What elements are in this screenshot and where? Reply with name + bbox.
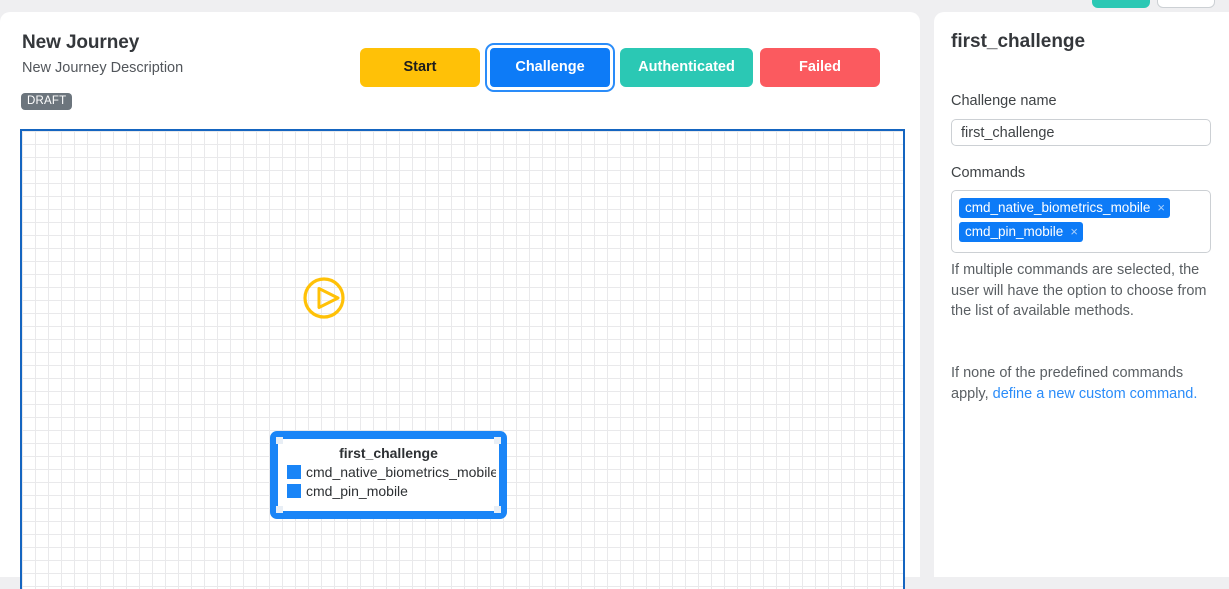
list-item: cmd_native_biometrics_mobile xyxy=(287,464,496,480)
commands-multiselect[interactable]: cmd_native_biometrics_mobile × cmd_pin_m… xyxy=(951,190,1211,253)
resize-handle-bottom-left[interactable] xyxy=(276,506,283,513)
journey-main-card: New Journey New Journey Description DRAF… xyxy=(0,12,920,577)
top-action-bar xyxy=(0,0,1229,12)
command-chip-label: cmd_native_biometrics_mobile xyxy=(965,200,1150,215)
resize-handle-bottom-right[interactable] xyxy=(494,506,501,513)
state-button-start[interactable]: Start xyxy=(360,48,480,87)
play-circle-icon[interactable] xyxy=(302,276,346,320)
challenge-node-title: first_challenge xyxy=(281,445,496,461)
properties-panel: first_challenge Challenge name Commands … xyxy=(934,12,1229,577)
resize-handle-top-right[interactable] xyxy=(494,437,501,444)
challenge-node-command-label: cmd_native_biometrics_mobile xyxy=(306,464,498,480)
resize-handle-top-left[interactable] xyxy=(276,437,283,444)
status-badge: DRAFT xyxy=(21,93,72,110)
close-icon[interactable]: × xyxy=(1157,201,1165,214)
command-chip-label: cmd_pin_mobile xyxy=(965,224,1063,239)
commands-label: Commands xyxy=(951,165,1025,181)
challenge-name-label: Challenge name xyxy=(951,93,1057,109)
list-item: cmd_pin_mobile xyxy=(287,483,496,499)
commands-help-text: If multiple commands are selected, the u… xyxy=(951,260,1213,322)
challenge-node[interactable]: first_challenge cmd_native_biometrics_mo… xyxy=(270,431,507,519)
command-color-swatch xyxy=(287,465,301,479)
close-icon[interactable]: × xyxy=(1070,225,1078,238)
command-chip[interactable]: cmd_native_biometrics_mobile × xyxy=(959,198,1170,218)
command-chip[interactable]: cmd_pin_mobile × xyxy=(959,222,1083,242)
page-title: New Journey xyxy=(22,32,139,54)
state-button-failed[interactable]: Failed xyxy=(760,48,880,87)
journey-editor-app: New Journey New Journey Description DRAF… xyxy=(0,0,1229,577)
journey-canvas[interactable]: first_challenge cmd_native_biometrics_mo… xyxy=(20,129,905,589)
panel-title: first_challenge xyxy=(951,31,1085,53)
page-description: New Journey Description xyxy=(22,60,183,76)
state-button-challenge[interactable]: Challenge xyxy=(487,45,613,90)
define-custom-command-link[interactable]: define a new custom command. xyxy=(993,386,1198,402)
save-button[interactable] xyxy=(1092,0,1150,8)
custom-command-help-text: If none of the predefined commands apply… xyxy=(951,363,1213,404)
state-button-authenticated[interactable]: Authenticated xyxy=(620,48,753,87)
command-color-swatch xyxy=(287,484,301,498)
challenge-node-body: first_challenge cmd_native_biometrics_mo… xyxy=(278,439,499,511)
challenge-node-command-label: cmd_pin_mobile xyxy=(306,483,408,499)
secondary-button[interactable] xyxy=(1157,0,1215,8)
challenge-name-input[interactable] xyxy=(951,119,1211,146)
